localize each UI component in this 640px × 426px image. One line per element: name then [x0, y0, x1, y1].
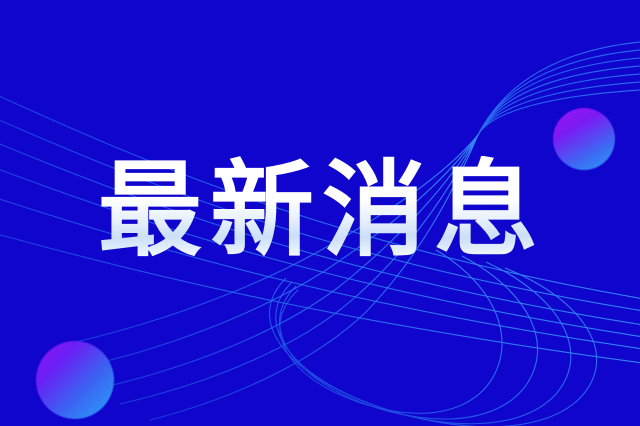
headline-char-3: 消	[320, 156, 432, 264]
headline-container: 最新消息	[0, 156, 640, 264]
headline-char-1: 最	[96, 156, 208, 264]
headline-char-2: 新	[208, 156, 320, 264]
headline-text: 最新消息	[96, 156, 544, 264]
headline-char-4: 息	[432, 156, 544, 264]
news-banner: 最新消息	[0, 0, 640, 426]
